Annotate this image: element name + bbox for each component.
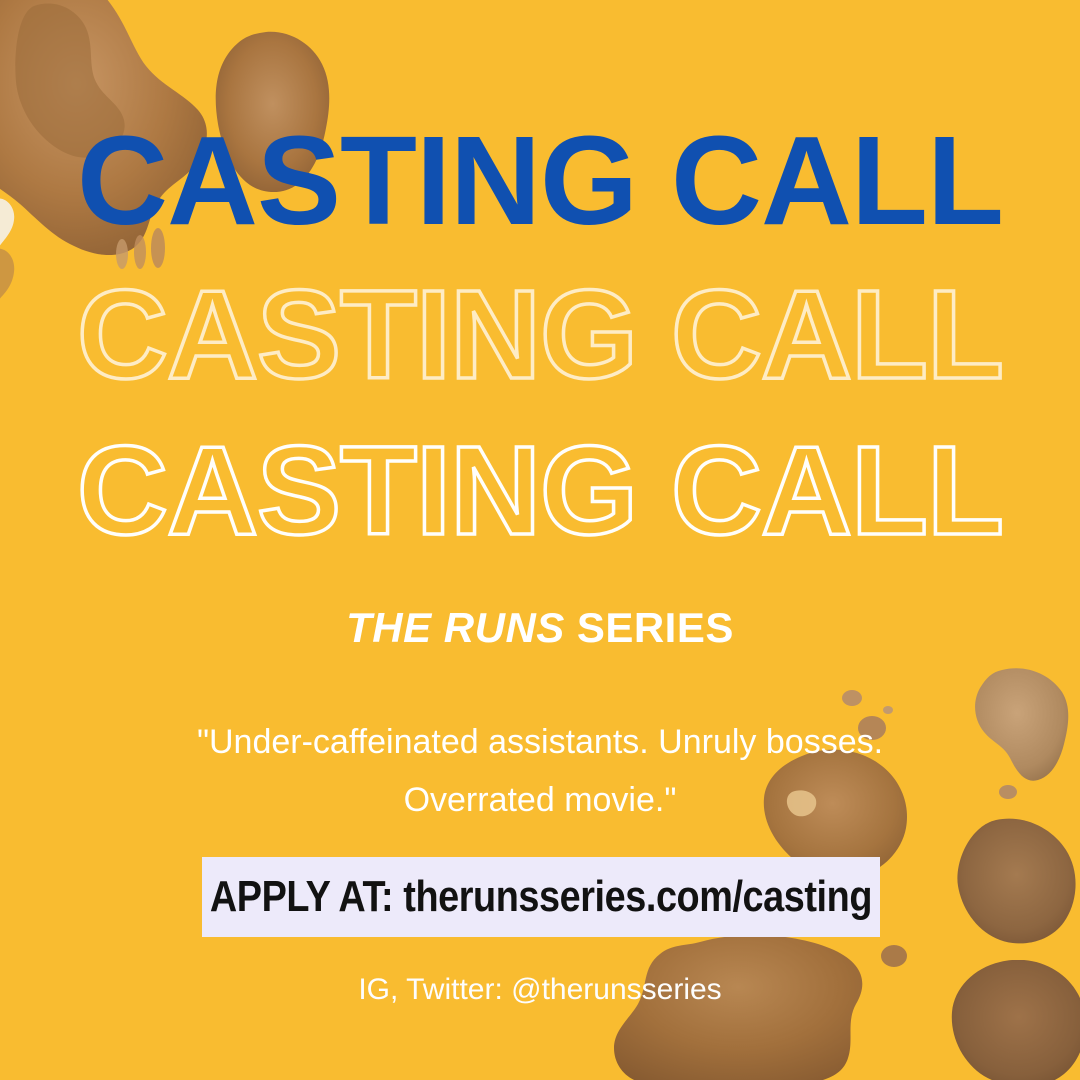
apply-banner-text: APPLY AT: therunsseries.com/casting xyxy=(210,875,872,919)
headline-primary: CASTING CALL xyxy=(0,118,1080,244)
series-subtitle: THE RUNSSERIES xyxy=(0,607,1080,649)
headline-echo-2: CASTING CALL xyxy=(0,428,1080,554)
series-word-series: SERIES xyxy=(577,604,734,651)
casting-call-poster: CASTING CALL CASTING CALL CASTING CALL T… xyxy=(0,0,1080,1080)
apply-banner[interactable]: APPLY AT: therunsseries.com/casting xyxy=(202,857,880,937)
tagline-quote: "Under-caffeinated assistants. Unruly bo… xyxy=(130,713,950,829)
apply-label: APPLY AT: xyxy=(210,872,393,921)
poster-content: CASTING CALL CASTING CALL CASTING CALL T… xyxy=(0,0,1080,1080)
apply-url[interactable]: therunsseries.com/casting xyxy=(403,872,872,921)
tagline-quote-line-1: "Under-caffeinated assistants. Unruly bo… xyxy=(130,713,950,771)
tagline-quote-line-2: Overrated movie." xyxy=(130,771,950,829)
social-handles: IG, Twitter: @therunsseries xyxy=(0,975,1080,1005)
headline-echo-1: CASTING CALL xyxy=(0,272,1080,398)
series-name-italic: THE RUNS xyxy=(346,604,565,651)
